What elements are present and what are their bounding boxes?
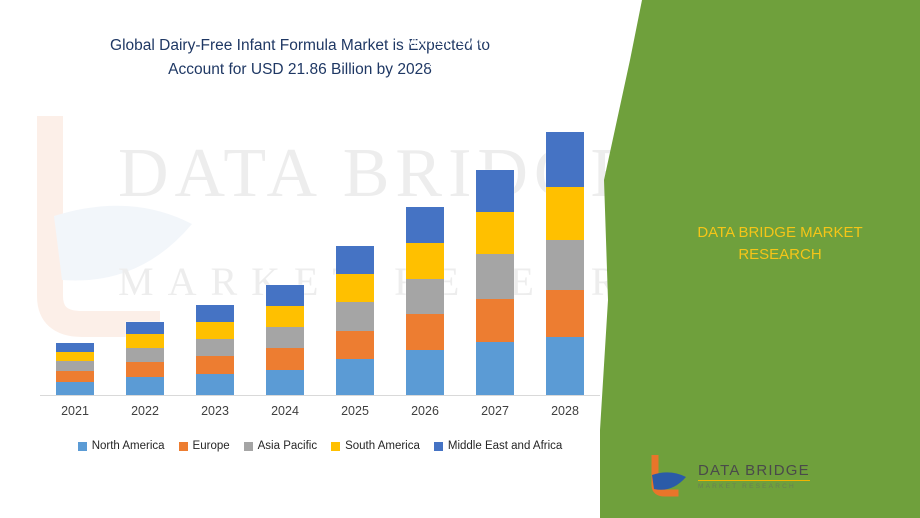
bar-segment <box>476 299 514 342</box>
legend-swatch-icon <box>434 442 443 451</box>
x-axis-tick-label: 2022 <box>110 404 180 418</box>
bar-segment <box>546 240 584 290</box>
bar-segment <box>336 274 374 302</box>
x-axis-tick-label: 2026 <box>390 404 460 418</box>
bar-segment <box>126 334 164 348</box>
x-axis-tick-label: 2028 <box>530 404 600 418</box>
bar-segment <box>336 302 374 331</box>
x-axis-tick-label: 2024 <box>250 404 320 418</box>
bar-column <box>460 110 530 396</box>
logo-sub-text: MARKET RESEARCH <box>698 484 810 491</box>
brand-name-line-1: DATA BRIDGE MARKET <box>640 222 920 244</box>
bar-segment <box>126 348 164 362</box>
panel-title-line-2: Market, By Regions, <box>34 30 906 52</box>
legend-item[interactable]: Europe <box>179 440 230 452</box>
panel-title: Global Dairy-Free Infant Formula Market,… <box>0 8 920 74</box>
bar-segment <box>476 212 514 254</box>
bar-segment <box>126 322 164 334</box>
bar-column <box>110 110 180 396</box>
bar-segment <box>56 343 94 352</box>
legend-label: North America <box>92 440 165 452</box>
bar-segment <box>406 314 444 350</box>
bar-segment <box>126 377 164 396</box>
panel-title-line-1: Global Dairy-Free Infant Formula <box>34 8 906 30</box>
x-axis-tick-label: 2025 <box>320 404 390 418</box>
stacked-bar <box>476 170 514 396</box>
bar-segment <box>406 279 444 314</box>
bar-column <box>180 110 250 396</box>
bar-segment <box>406 350 444 396</box>
plot-region <box>40 110 600 396</box>
bar-column <box>320 110 390 396</box>
bar-segment <box>546 337 584 396</box>
stacked-bar <box>266 285 304 396</box>
data-bridge-logo-icon <box>648 455 690 499</box>
bar-segment <box>266 348 304 370</box>
bar-segment <box>336 359 374 396</box>
logo-text: DATA BRIDGE MARKET RESEARCH <box>698 463 810 491</box>
bar-segment <box>196 356 234 374</box>
bar-segment <box>56 371 94 382</box>
stacked-bar <box>336 246 374 396</box>
bar-segment <box>266 285 304 306</box>
chart-area: DATA BRIDGE MARKET RESEARCH Global Dairy… <box>0 0 640 518</box>
bar-segment <box>266 306 304 327</box>
brand-name: DATA BRIDGE MARKET RESEARCH <box>640 222 920 266</box>
x-axis-tick-label: 2027 <box>460 404 530 418</box>
legend-item[interactable]: Asia Pacific <box>244 440 317 452</box>
bar-segment <box>476 254 514 299</box>
bar-column <box>530 110 600 396</box>
legend-label: Europe <box>193 440 230 452</box>
legend-item[interactable]: North America <box>78 440 165 452</box>
stacked-bar <box>406 207 444 396</box>
stacked-bar <box>196 305 234 396</box>
x-axis-tick-label: 2023 <box>180 404 250 418</box>
bar-segment <box>266 370 304 396</box>
bar-segment <box>546 290 584 337</box>
bar-segment <box>476 170 514 212</box>
bar-group <box>40 110 600 396</box>
infographic-root: DATA BRIDGE MARKET RESEARCH Global Dairy… <box>0 0 920 518</box>
logo-main-text: DATA BRIDGE <box>698 463 810 481</box>
bar-segment <box>476 342 514 396</box>
bar-segment <box>546 132 584 187</box>
legend-swatch-icon <box>179 442 188 451</box>
chart-legend: North AmericaEuropeAsia PacificSouth Ame… <box>30 440 610 452</box>
bar-segment <box>196 305 234 322</box>
stacked-bar <box>126 322 164 396</box>
legend-swatch-icon <box>244 442 253 451</box>
bar-segment <box>406 243 444 279</box>
legend-item[interactable]: South America <box>331 440 420 452</box>
bar-segment <box>546 187 584 240</box>
panel-title-line-3: 2021 to 2028 <box>34 52 906 74</box>
bar-segment <box>56 382 94 396</box>
bar-segment <box>196 322 234 339</box>
bar-segment <box>336 246 374 274</box>
bar-segment <box>196 374 234 396</box>
legend-label: South America <box>345 440 420 452</box>
bar-column <box>40 110 110 396</box>
bar-segment <box>56 352 94 361</box>
bar-segment <box>266 327 304 348</box>
bar-segment <box>406 207 444 243</box>
x-axis-labels: 20212022202320242025202620272028 <box>40 404 600 418</box>
bar-segment <box>56 361 94 371</box>
legend-label: Asia Pacific <box>258 440 317 452</box>
bar-segment <box>126 362 164 377</box>
legend-swatch-icon <box>331 442 340 451</box>
legend-label: Middle East and Africa <box>448 440 562 452</box>
x-axis-tick-label: 2021 <box>40 404 110 418</box>
company-logo: DATA BRIDGE MARKET RESEARCH <box>648 452 898 502</box>
brand-name-line-2: RESEARCH <box>640 244 920 266</box>
legend-item[interactable]: Middle East and Africa <box>434 440 562 452</box>
bar-segment <box>336 331 374 359</box>
bar-column <box>250 110 320 396</box>
bar-column <box>390 110 460 396</box>
stacked-bar <box>56 343 94 396</box>
stacked-bar <box>546 132 584 396</box>
x-axis-line <box>40 395 600 396</box>
bar-segment <box>196 339 234 356</box>
legend-swatch-icon <box>78 442 87 451</box>
